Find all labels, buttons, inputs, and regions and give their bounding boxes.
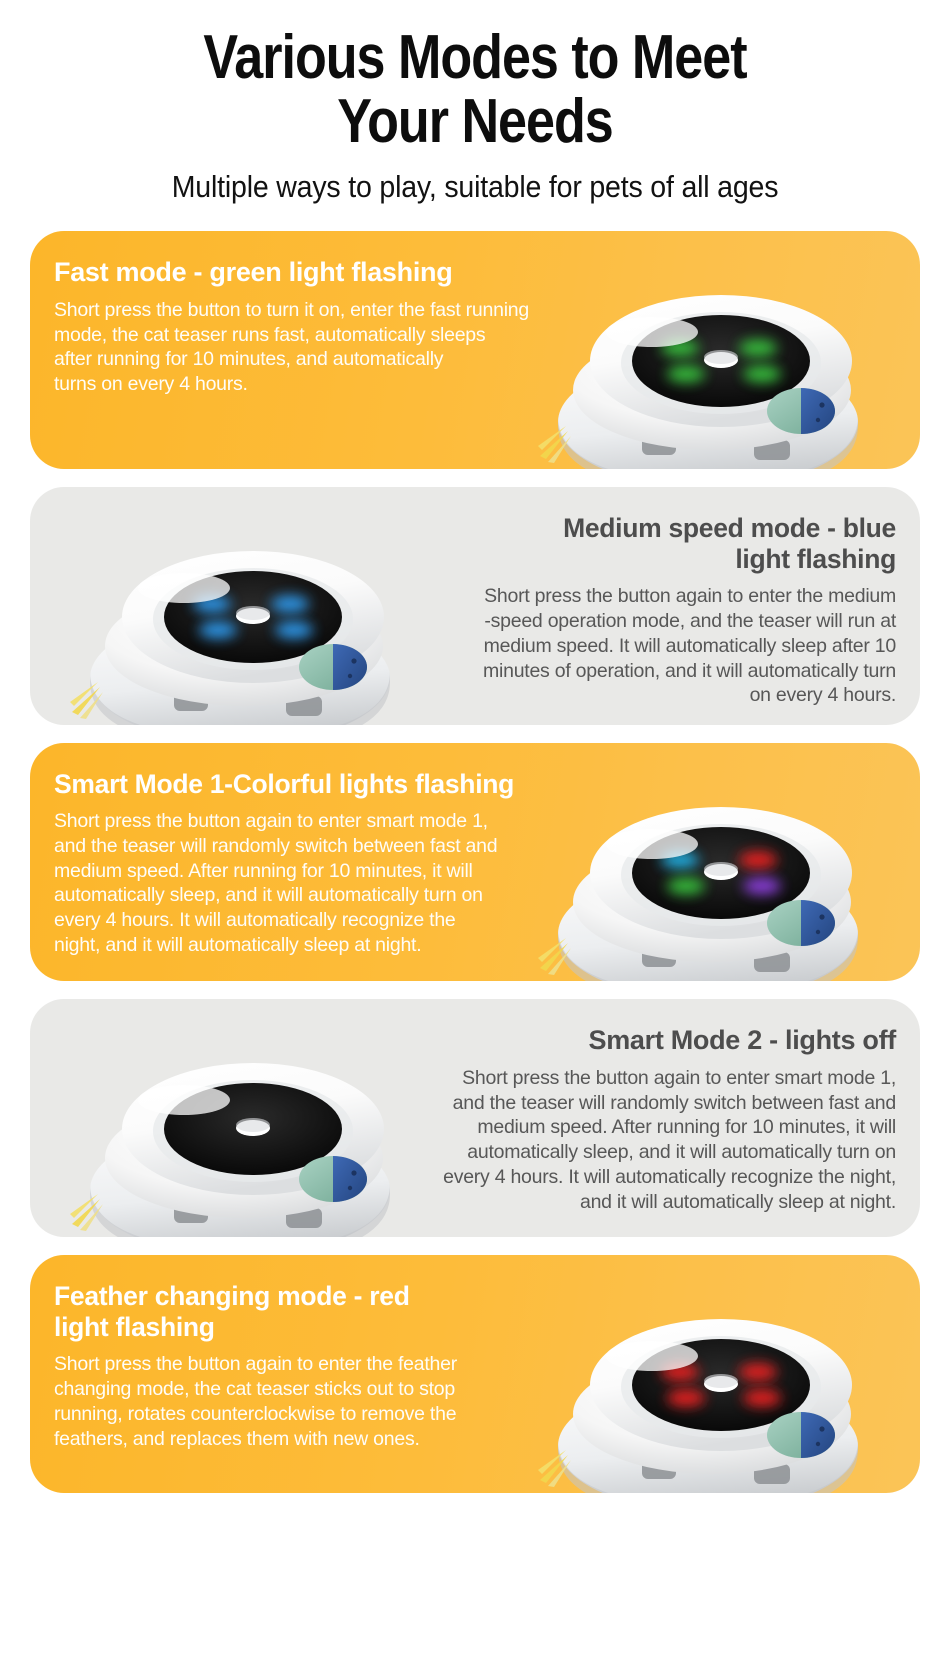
product-highlight — [138, 573, 230, 603]
product-illustration — [54, 1008, 434, 1237]
product-image-smart-mode-1 — [522, 752, 902, 981]
led-light — [739, 1363, 777, 1380]
page-title-line-2: Your Needs — [76, 90, 874, 154]
product-base-shadow — [558, 928, 858, 981]
center-hole-rim — [236, 606, 270, 620]
product-top-ring-inner-shadow — [621, 312, 821, 414]
vent-slot — [754, 952, 790, 972]
mode-card-list: Fast mode - green light flashingShort pr… — [0, 231, 950, 1493]
vent-slot — [286, 696, 322, 716]
led-light — [661, 851, 699, 868]
led-light — [739, 339, 777, 356]
product-top-ring-inner-shadow — [621, 824, 821, 926]
product-highlight — [606, 1341, 698, 1371]
center-hole-rim — [704, 862, 738, 876]
mode-card-text: Medium speed mode - blue light flashingS… — [396, 513, 896, 708]
led-light — [667, 365, 705, 382]
product-base — [558, 1380, 858, 1493]
mode-card-smart-mode-2: Smart Mode 2 - lights offShort press the… — [30, 999, 920, 1237]
accent-puck — [767, 900, 835, 946]
mode-card-text: Fast mode - green light flashingShort pr… — [54, 257, 574, 397]
page-title: Various Modes to Meet Your Needs — [76, 26, 874, 155]
led-light — [193, 595, 231, 612]
page-title-line-1: Various Modes to Meet — [203, 23, 746, 92]
led-light — [661, 1363, 699, 1380]
product-midbody — [105, 586, 383, 706]
product-top-ring — [590, 295, 852, 427]
led-group — [193, 595, 313, 638]
led-group — [661, 1363, 781, 1406]
product-base-shadow — [558, 416, 858, 469]
mode-card-text: Smart Mode 1-Colorful lights flashingSho… — [54, 769, 574, 958]
mode-card-body: Short press the button again to enter sm… — [396, 1066, 896, 1215]
mode-card-smart-mode-1: Smart Mode 1-Colorful lights flashingSho… — [30, 743, 920, 981]
product-top-ring-inner-shadow — [153, 568, 353, 670]
mode-card-body: Short press the button to turn it on, en… — [54, 298, 574, 397]
product-top-ring — [590, 807, 852, 939]
product-image-fast-mode — [522, 240, 902, 469]
led-light — [275, 621, 313, 638]
led-light — [743, 1389, 781, 1406]
feather-tuft — [70, 1194, 103, 1231]
vent-slot — [642, 948, 676, 967]
accent-puck — [299, 1156, 367, 1202]
product-base-shadow — [90, 672, 390, 725]
center-hole-rim — [236, 1118, 270, 1132]
led-disc — [632, 1339, 810, 1431]
vent-slot — [754, 1464, 790, 1484]
product-top-ring-inner-shadow — [153, 1080, 353, 1182]
product-base — [558, 356, 858, 469]
center-hole-rim — [704, 1374, 738, 1388]
mode-card-body: Short press the button again to enter sm… — [54, 809, 574, 958]
vent-slot — [174, 1204, 208, 1223]
product-base — [90, 1124, 390, 1237]
product-highlight — [606, 829, 698, 859]
product-top-ring-inner-shadow — [621, 1336, 821, 1438]
product-image-feather-changing-mode — [522, 1264, 902, 1493]
led-light — [667, 877, 705, 894]
led-disc — [632, 827, 810, 919]
feather-tuft — [538, 1450, 571, 1487]
mode-card-feather-changing-mode: Feather changing mode - red light flashi… — [30, 1255, 920, 1493]
vent-slot — [642, 1460, 676, 1479]
center-hole-rim — [704, 350, 738, 364]
product-base-shadow — [558, 1440, 858, 1493]
led-light — [743, 365, 781, 382]
product-base-shadow — [90, 1184, 390, 1237]
led-group — [661, 339, 781, 382]
mode-card-title: Feather changing mode - red light flashi… — [54, 1281, 574, 1344]
feather-tuft — [538, 426, 571, 463]
product-highlight — [606, 317, 698, 347]
product-base — [90, 612, 390, 725]
mode-card-text: Feather changing mode - red light flashi… — [54, 1281, 574, 1452]
vent-slot — [174, 692, 208, 711]
led-light — [743, 877, 781, 894]
center-hole — [236, 608, 270, 624]
led-light — [199, 621, 237, 638]
mode-card-fast-mode: Fast mode - green light flashingShort pr… — [30, 231, 920, 469]
product-midbody — [573, 330, 851, 450]
accent-puck — [767, 388, 835, 434]
vent-slot — [286, 1208, 322, 1228]
product-top-ring — [590, 1319, 852, 1451]
product-illustration — [522, 1264, 902, 1493]
mode-card-body: Short press the button again to enter th… — [396, 584, 896, 708]
center-hole — [236, 1120, 270, 1136]
led-light — [661, 339, 699, 356]
led-light — [739, 851, 777, 868]
mode-card-medium-speed-mode: Medium speed mode - blue light flashingS… — [30, 487, 920, 725]
led-light — [667, 1389, 705, 1406]
led-group — [661, 851, 781, 894]
page-subtitle: Multiple ways to play, suitable for pets… — [38, 169, 912, 205]
mode-card-title: Smart Mode 1-Colorful lights flashing — [54, 769, 574, 800]
product-illustration — [522, 752, 902, 981]
product-highlight — [138, 1085, 230, 1115]
led-light — [271, 595, 309, 612]
mode-card-title: Smart Mode 2 - lights off — [396, 1025, 896, 1057]
vent-slot — [642, 436, 676, 455]
product-top-ring — [122, 1063, 384, 1195]
mode-card-body: Short press the button again to enter th… — [54, 1352, 574, 1451]
feather-tuft — [70, 682, 103, 719]
mode-card-title: Medium speed mode - blue light flashing — [396, 513, 896, 576]
page-header: Various Modes to Meet Your Needs Multipl… — [0, 0, 950, 205]
led-disc — [164, 1083, 342, 1175]
mode-card-text: Smart Mode 2 - lights offShort press the… — [396, 1025, 896, 1214]
product-midbody — [105, 1098, 383, 1218]
product-illustration — [522, 240, 902, 469]
center-hole — [704, 352, 738, 368]
product-top-ring — [122, 551, 384, 683]
mode-card-title: Fast mode - green light flashing — [54, 257, 574, 289]
infographic-page: Various Modes to Meet Your Needs Multipl… — [0, 0, 950, 1676]
accent-puck — [299, 644, 367, 690]
led-disc — [164, 571, 342, 663]
product-image-medium-speed-mode — [54, 496, 434, 725]
product-illustration — [54, 496, 434, 725]
product-base — [558, 868, 858, 981]
product-midbody — [573, 1354, 851, 1474]
center-hole — [704, 864, 738, 880]
product-image-smart-mode-2 — [54, 1008, 434, 1237]
accent-puck — [767, 1412, 835, 1458]
product-midbody — [573, 842, 851, 962]
center-hole — [704, 1376, 738, 1392]
vent-slot — [754, 440, 790, 460]
led-disc — [632, 315, 810, 407]
